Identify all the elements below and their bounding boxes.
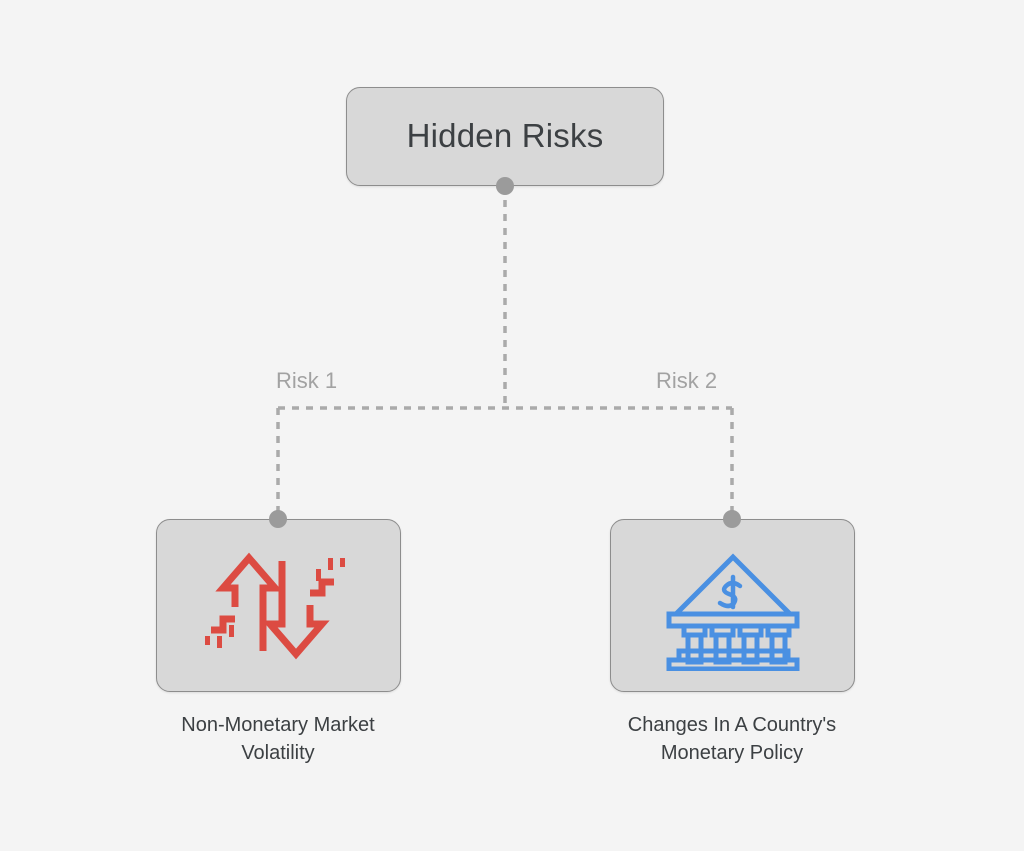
node-card-changes-in-a-countrys-monetary-policy[interactable] [610,519,855,692]
bank-dollar-icon [658,541,808,671]
node-caption-left-line1: Non-Monetary Market [128,711,428,739]
edge-label-risk-1: Risk 1 [276,368,337,394]
node-caption-left-line2: Volatility [128,739,428,767]
node-caption-right-line2: Monetary Policy [582,739,882,767]
junction-dot-root [496,177,514,195]
junction-dot-card-right [723,510,741,528]
junction-dot-card-left [269,510,287,528]
root-node[interactable]: Hidden Risks [346,87,664,186]
edge-label-risk-2: Risk 2 [656,368,717,394]
diagram-canvas: Hidden Risks Risk 1 Risk 2 [0,0,1024,851]
root-node-label: Hidden Risks [407,118,604,154]
node-caption-right-line1: Changes In A Country's [582,711,882,739]
node-caption-left: Non-Monetary Market Volatility [128,711,428,767]
node-card-non-monetary-market-volatility[interactable] [156,519,401,692]
node-caption-right: Changes In A Country's Monetary Policy [582,711,882,767]
volatility-arrows-icon [204,541,354,671]
